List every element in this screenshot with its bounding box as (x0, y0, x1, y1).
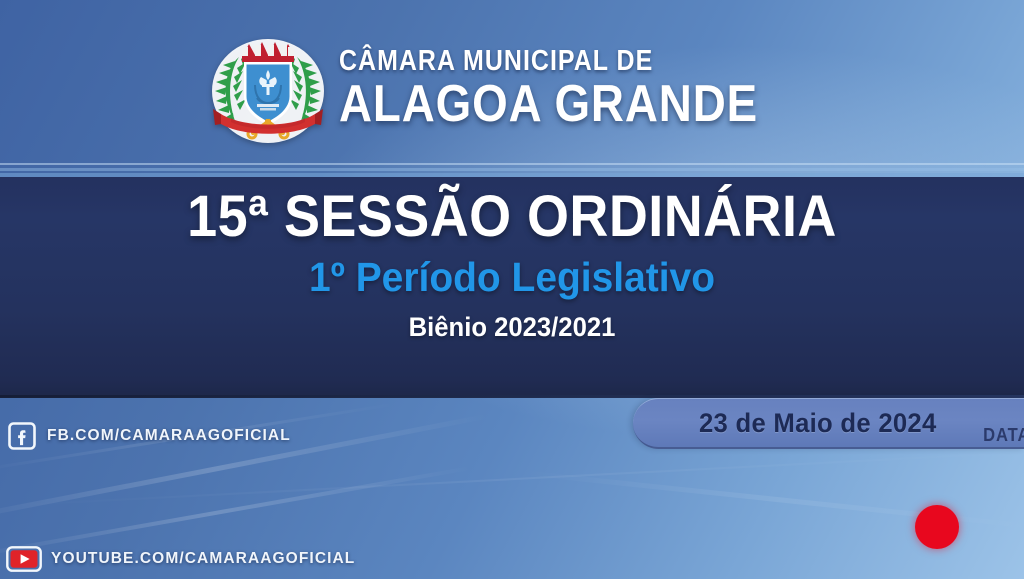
facebook-label: FB.COM/CAMARAAGOFICIAL (47, 427, 291, 445)
session-title: 15ª SESSÃO ORDINÁRIA (36, 188, 988, 246)
brand-line-1: CÂMARA MUNICIPAL DE (339, 47, 749, 76)
record-dot-icon (915, 505, 959, 549)
divider-highlight (0, 163, 1024, 165)
date-value: 23 de Maio de 2024 (699, 408, 937, 439)
youtube-link[interactable]: YOUTUBE.COM/CAMARAAGOFICIAL (6, 546, 355, 572)
brand-line-2: ALAGOA GRANDE (339, 78, 758, 131)
session-subtitle: 1º Período Legislativo (26, 257, 999, 298)
session-titles: 15ª SESSÃO ORDINÁRIA 1º Período Legislat… (0, 188, 1024, 341)
facebook-link[interactable]: FB.COM/CAMARAAGOFICIAL (6, 420, 291, 452)
youtube-label: YOUTUBE.COM/CAMARAAGOFICIAL (51, 550, 355, 568)
divider-highlight (0, 168, 1024, 171)
coat-of-arms-icon (209, 35, 327, 147)
youtube-icon (6, 546, 42, 572)
broadcast-overlay-screen: CÂMARA MUNICIPAL DE ALAGOA GRANDE 15ª SE… (0, 0, 1024, 579)
header-brand-block: CÂMARA MUNICIPAL DE ALAGOA GRANDE (0, 26, 1024, 156)
session-biennium: Biênio 2023/2021 (26, 314, 999, 341)
date-label: DATA (983, 425, 1024, 446)
background-light-streak (0, 451, 1023, 507)
date-panel: 23 de Maio de 2024 DATA (633, 398, 1024, 449)
brand-text-block: CÂMARA MUNICIPAL DE ALAGOA GRANDE (339, 47, 815, 135)
facebook-icon (6, 420, 38, 452)
